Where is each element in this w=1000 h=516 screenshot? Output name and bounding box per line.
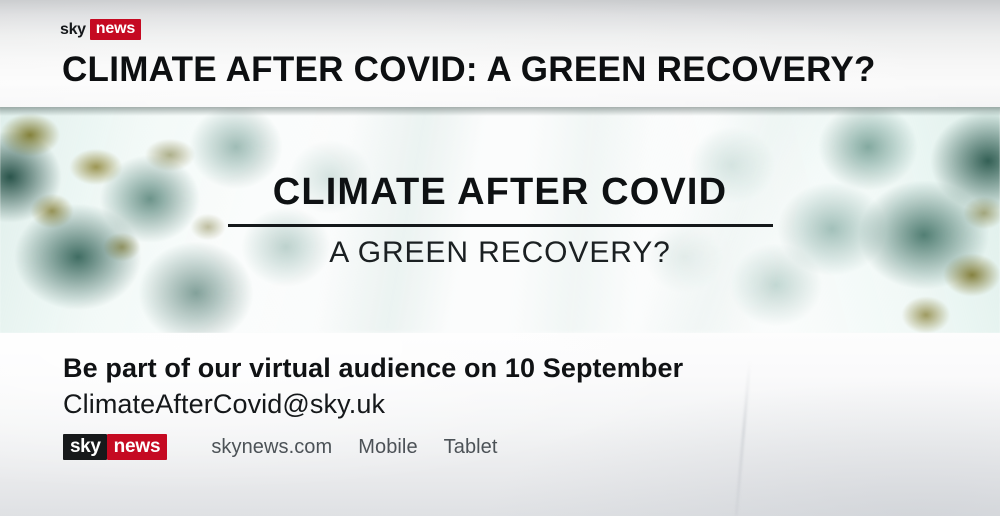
banner-image: CLIMATE AFTER COVID A GREEN RECOVERY? [0,107,1000,333]
banner-divider [228,224,773,227]
header-bar: sky news CLIMATE AFTER COVID: A GREEN RE… [0,0,1000,107]
sky-news-logo-header[interactable]: sky news [60,19,141,40]
footer-bar: sky news skynews.com Mobile Tablet [63,434,498,460]
banner-text-block: CLIMATE AFTER COVID A GREEN RECOVERY? [0,107,1000,333]
footer-link-mobile[interactable]: Mobile [358,435,417,459]
news-wordmark: news [107,434,168,460]
sky-wordmark: sky [63,434,107,460]
sky-news-logo-footer[interactable]: sky news [63,434,167,460]
promo-email-address[interactable]: ClimateAfterCovid@sky.uk [63,388,385,421]
banner-title: CLIMATE AFTER COVID [273,170,727,214]
footer-link-website[interactable]: skynews.com [211,435,332,459]
page-title: CLIMATE AFTER COVID: A GREEN RECOVERY? [62,49,876,90]
news-wordmark: news [90,19,141,40]
footer-links: skynews.com Mobile Tablet [211,435,497,459]
sky-news-promo-screen: sky news CLIMATE AFTER COVID: A GREEN RE… [0,0,1000,516]
sky-wordmark: sky [60,19,90,40]
promo-invitation-text: Be part of our virtual audience on 10 Se… [63,352,683,385]
banner-subtitle: A GREEN RECOVERY? [329,236,671,270]
footer-link-tablet[interactable]: Tablet [444,435,498,459]
